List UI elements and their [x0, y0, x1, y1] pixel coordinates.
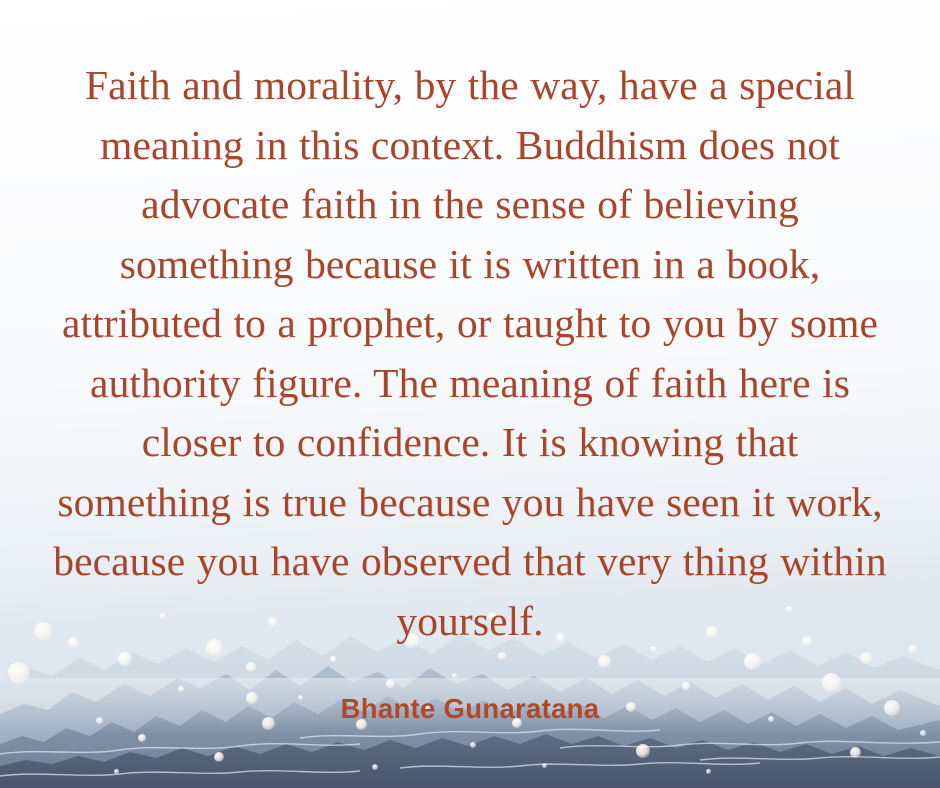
quote-poster: Faith and morality, by the way, have a s… — [0, 0, 940, 788]
quote-attribution: Bhante Gunaratana — [0, 693, 940, 725]
poster-content: Faith and morality, by the way, have a s… — [0, 0, 940, 788]
quote-text: Faith and morality, by the way, have a s… — [50, 56, 890, 651]
